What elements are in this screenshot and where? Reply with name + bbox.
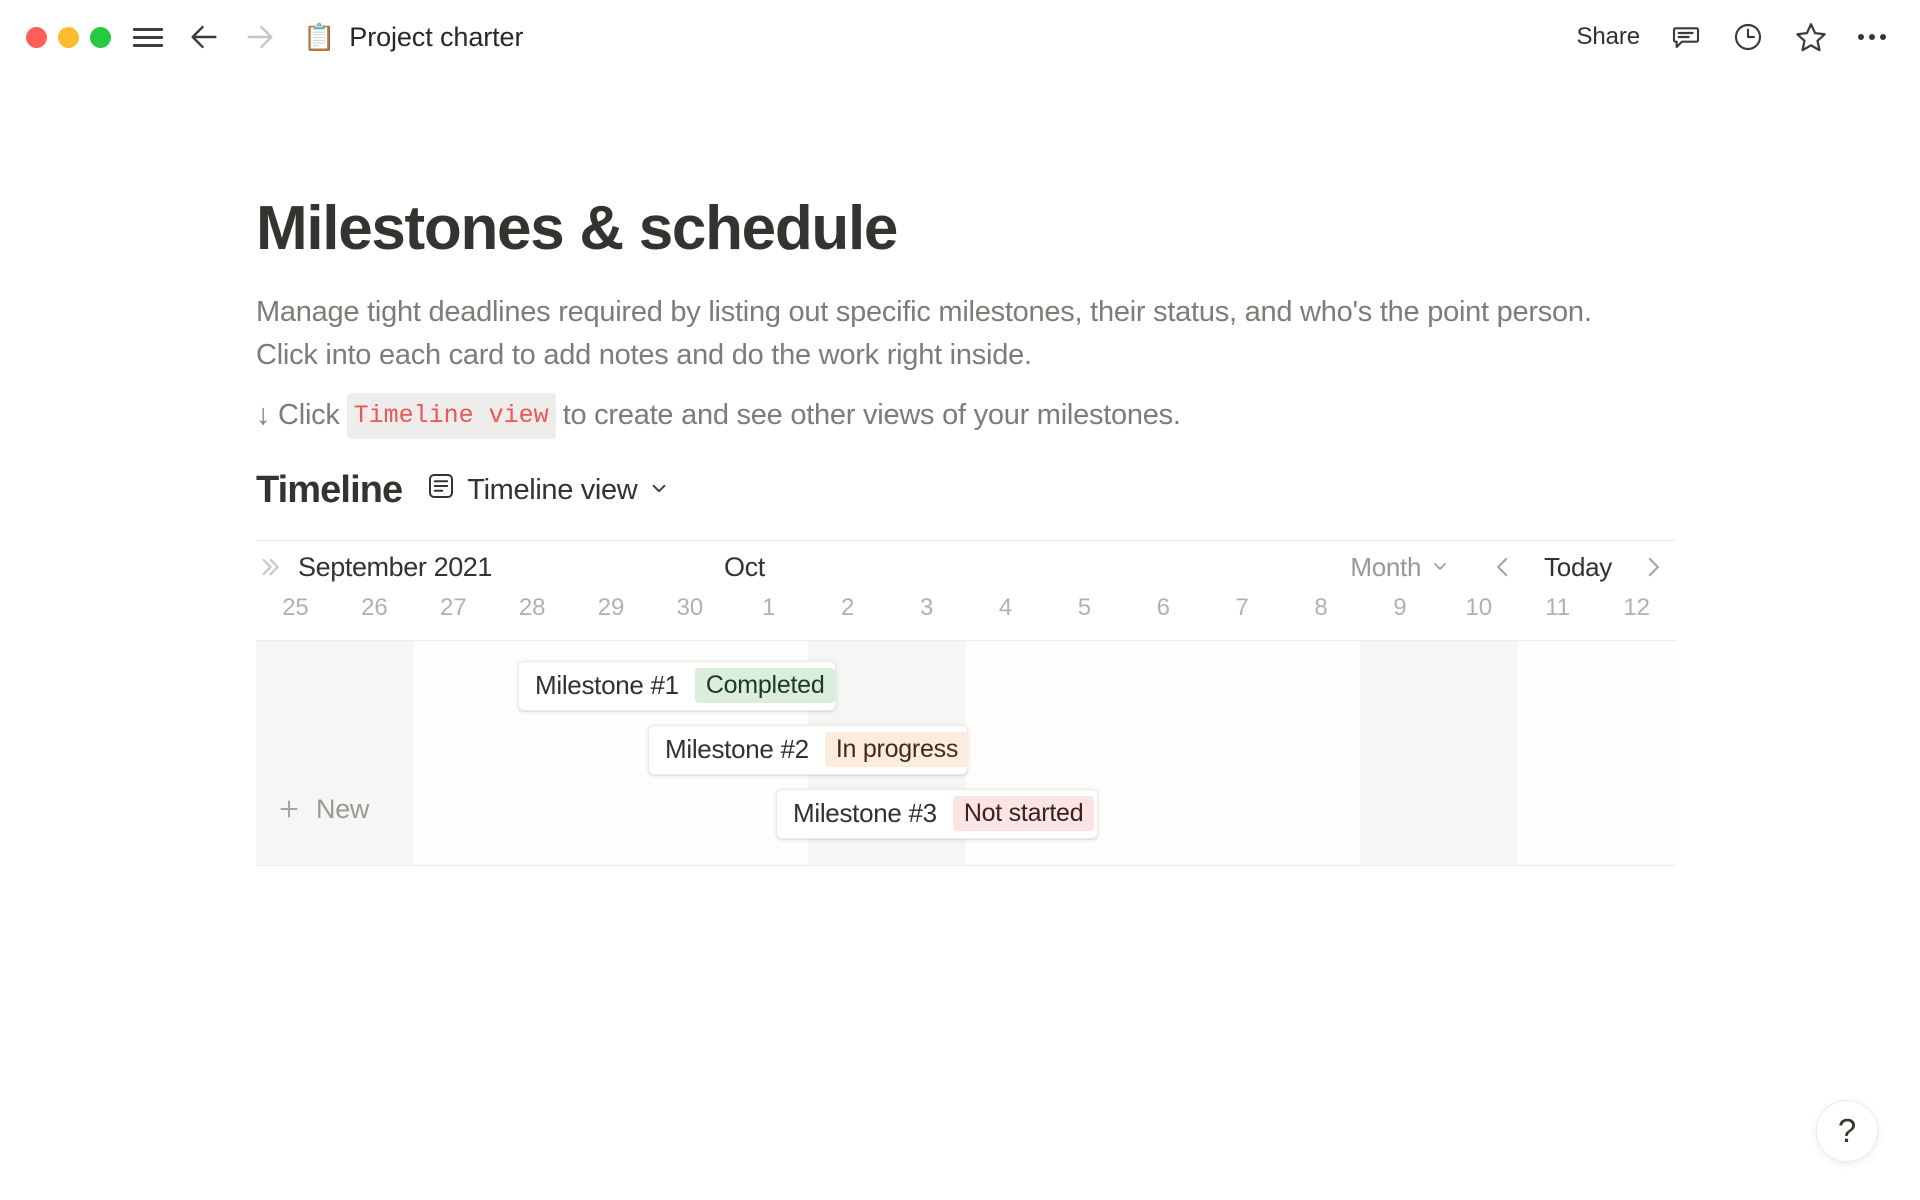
milestone-title: Milestone #2 [665, 734, 809, 765]
date-ruler-cell: 25 [256, 594, 335, 622]
milestone-title: Milestone #1 [535, 670, 679, 701]
comment-icon[interactable] [1670, 21, 1702, 53]
chevron-right-icon[interactable] [1630, 554, 1676, 580]
today-button[interactable]: Today [1526, 552, 1630, 583]
date-ruler-cell: 29 [572, 594, 651, 622]
window-titlebar: 📋 Project charter Share [0, 0, 1920, 74]
history-clock-icon[interactable] [1732, 21, 1764, 53]
view-selector-label: Timeline view [467, 474, 637, 507]
minimize-window-button[interactable] [58, 27, 79, 48]
date-ruler-cell: 28 [493, 594, 572, 622]
page-intro-paragraph: Manage tight deadlines required by listi… [256, 291, 1616, 377]
timeline-toolbar: September 2021 Oct Month [256, 540, 1676, 594]
date-ruler-cell: 7 [1203, 594, 1282, 622]
date-ruler-cell: 10 [1439, 594, 1518, 622]
callout-prefix: ↓ Click [256, 394, 340, 438]
callout-paragraph: ↓ Click Timeline view to create and see … [256, 393, 1676, 439]
date-ruler-cell: 2 [808, 594, 887, 622]
timeline-board: September 2021 Oct Month [256, 540, 1676, 866]
callout-suffix: to create and see other views of your mi… [563, 394, 1181, 438]
help-button[interactable]: ? [1816, 1100, 1878, 1162]
clipboard-icon: 📋 [303, 24, 335, 50]
date-ruler-cell: 12 [1597, 594, 1676, 622]
status-badge: Not started [953, 796, 1095, 831]
share-button[interactable]: Share [1576, 23, 1640, 51]
timeline-scale-select[interactable]: Month [1350, 552, 1450, 583]
breadcrumb[interactable]: 📋 Project charter [303, 22, 523, 53]
content-column: Milestones & schedule Manage tight deadl… [256, 194, 1676, 866]
timeline-heading: Timeline [256, 469, 402, 512]
date-ruler-cell: 3 [887, 594, 966, 622]
timeline-section-header: Timeline Timeline view [256, 469, 1676, 512]
timeline-date-ruler: 252627282930123456789101112 [256, 594, 1676, 640]
new-milestone-label: New [316, 794, 369, 825]
page-body: Milestones & schedule Manage tight deadl… [0, 74, 1920, 866]
question-mark-icon: ? [1838, 1112, 1856, 1150]
timeline-scale-label: Month [1350, 552, 1421, 583]
double-chevron-right-icon[interactable] [256, 554, 282, 580]
date-ruler-cell: 4 [966, 594, 1045, 622]
date-ruler-cell: 8 [1282, 594, 1361, 622]
forward-arrow-icon[interactable] [243, 20, 277, 54]
app-window: 📋 Project charter Share [0, 0, 1920, 1200]
status-badge: In progress [825, 732, 969, 767]
date-ruler-cell: 1 [729, 594, 808, 622]
date-ruler-cell: 11 [1518, 594, 1597, 622]
new-milestone-button[interactable]: New [276, 794, 369, 825]
timeline-milestone-bars: Milestone #1CompletedMilestone #2In prog… [256, 641, 1676, 865]
timeline-view-icon [426, 471, 456, 509]
milestone-title: Milestone #3 [793, 798, 937, 829]
maximize-window-button[interactable] [90, 27, 111, 48]
navigation-arrows [187, 20, 277, 54]
chevron-left-icon[interactable] [1480, 554, 1526, 580]
close-window-button[interactable] [26, 27, 47, 48]
timeline-secondary-month-label: Oct [724, 552, 765, 583]
menu-icon[interactable] [133, 23, 163, 52]
star-icon[interactable] [1794, 20, 1828, 54]
milestone-card[interactable]: Milestone #1Completed [518, 661, 836, 711]
date-ruler-cell: 5 [1045, 594, 1124, 622]
date-ruler-cell: 30 [650, 594, 729, 622]
date-ruler-cell: 26 [335, 594, 414, 622]
timeline-primary-month-label: September 2021 [298, 552, 492, 583]
more-options-icon[interactable] [1858, 34, 1886, 40]
view-selector[interactable]: Timeline view [426, 471, 670, 509]
plus-icon [276, 796, 302, 822]
timeline-grid: Milestone #1CompletedMilestone #2In prog… [256, 640, 1676, 866]
chevron-down-icon [1430, 552, 1450, 583]
traffic-light-buttons [26, 27, 111, 48]
page-title: Milestones & schedule [256, 194, 1676, 263]
date-ruler-cell: 6 [1124, 594, 1203, 622]
back-arrow-icon[interactable] [187, 20, 221, 54]
document-title: Project charter [349, 22, 523, 53]
titlebar-actions: Share [1576, 20, 1892, 54]
date-ruler-cell: 27 [414, 594, 493, 622]
milestone-card[interactable]: Milestone #2In progress [648, 725, 968, 775]
inline-code-timeline-view: Timeline view [347, 393, 556, 439]
timeline-new-row [256, 641, 335, 865]
date-ruler-cell: 9 [1360, 594, 1439, 622]
chevron-down-icon [648, 474, 670, 507]
status-badge: Completed [695, 668, 836, 703]
timeline-toolbar-right: Month Today [1350, 552, 1676, 583]
milestone-card[interactable]: Milestone #3Not started [776, 789, 1098, 839]
